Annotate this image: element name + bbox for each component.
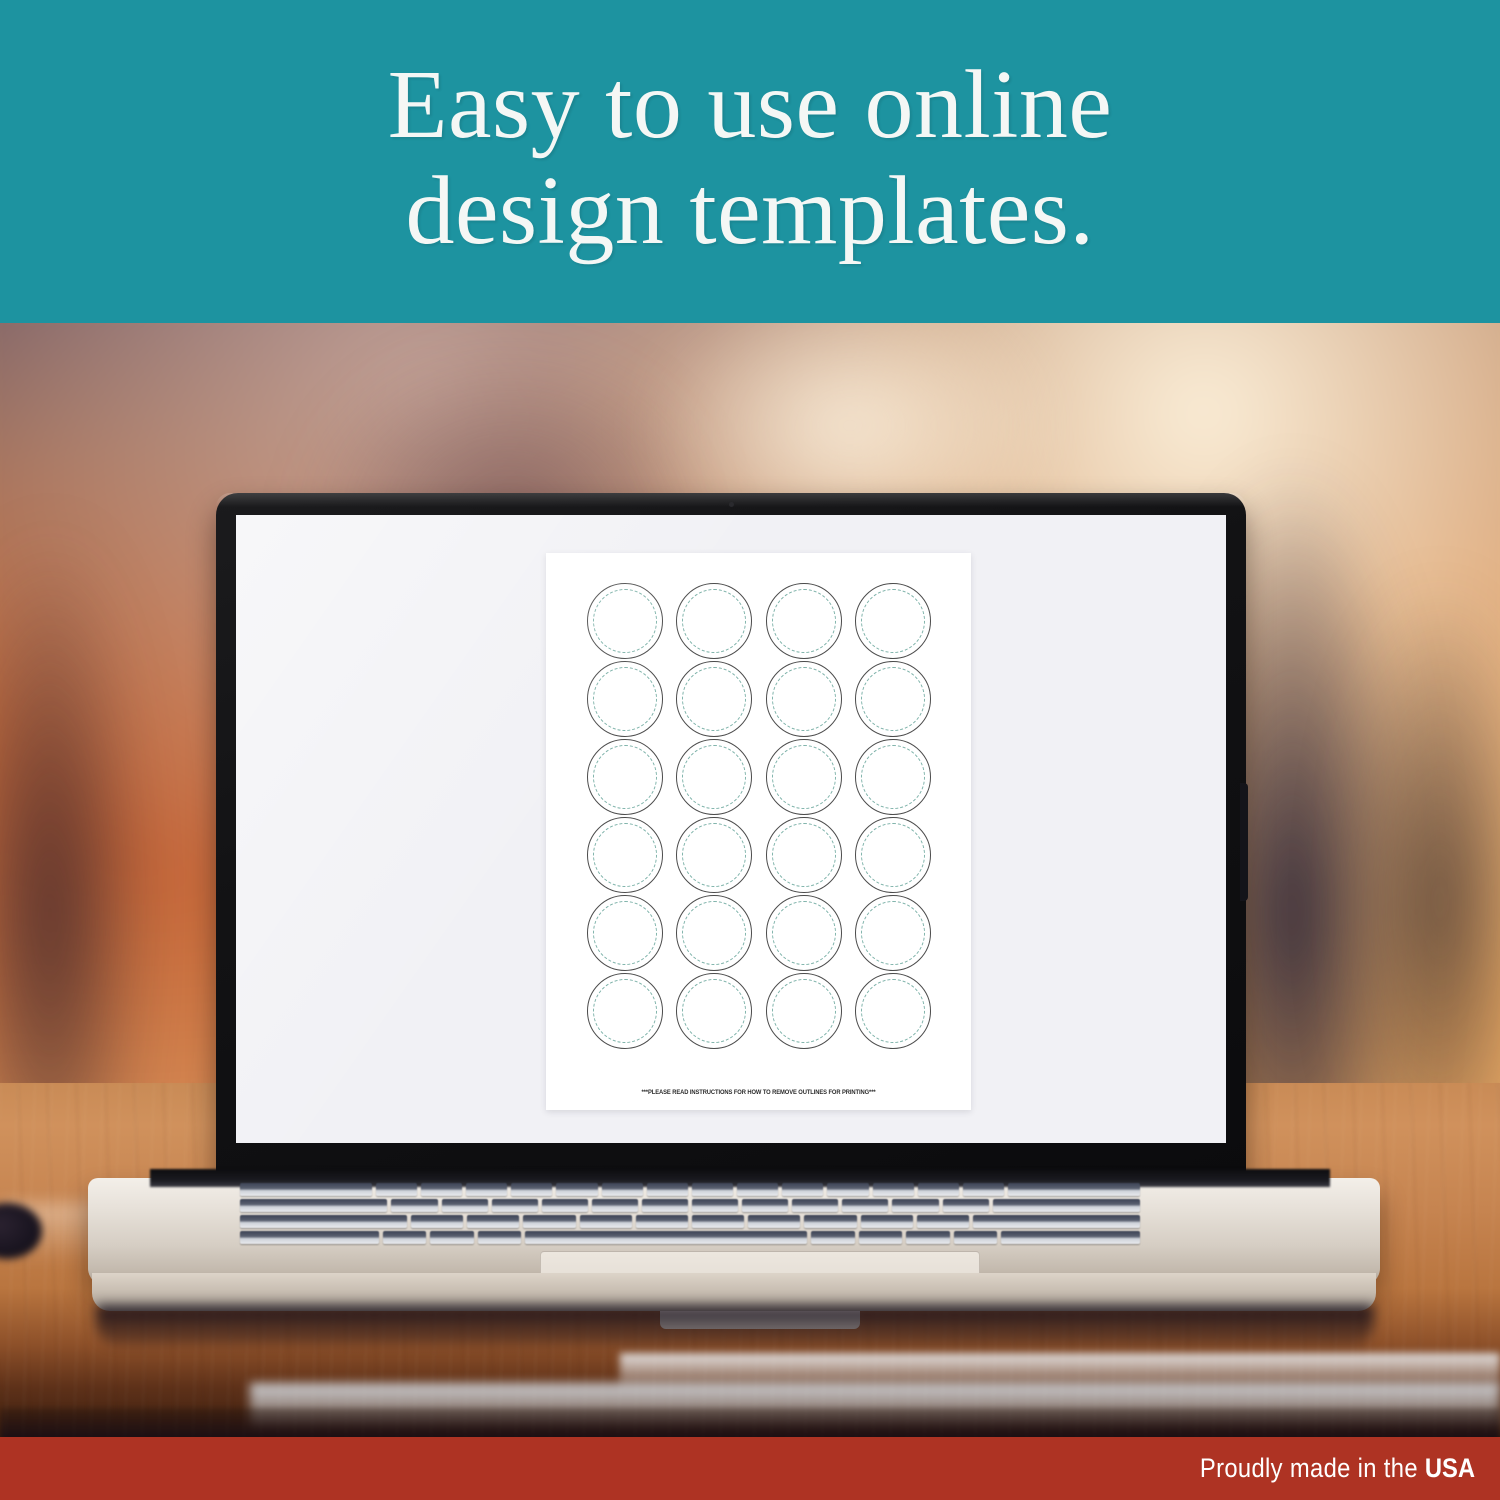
circle-dashed-guide	[682, 667, 746, 731]
key	[973, 1215, 1140, 1228]
key	[1001, 1231, 1140, 1244]
key	[556, 1183, 597, 1196]
key	[478, 1231, 521, 1244]
key	[692, 1215, 744, 1228]
key	[442, 1199, 488, 1212]
circle-dashed-guide	[593, 823, 657, 887]
key	[467, 1215, 519, 1228]
key	[421, 1183, 462, 1196]
label-circle[interactable]	[580, 582, 670, 660]
label-circle[interactable]	[670, 660, 760, 738]
label-circle[interactable]	[759, 660, 849, 738]
label-circle[interactable]	[580, 738, 670, 816]
key	[430, 1231, 473, 1244]
webcam-icon	[729, 502, 734, 507]
key	[954, 1231, 997, 1244]
key	[1008, 1183, 1140, 1196]
key	[918, 1183, 959, 1196]
label-circle[interactable]	[849, 582, 939, 660]
headline-line-1: Easy to use online	[388, 51, 1113, 159]
laptop-lid: ***PLEASE READ INSTRUCTIONS FOR HOW TO R…	[216, 493, 1246, 1185]
keyboard-row	[240, 1231, 1140, 1244]
key	[383, 1231, 426, 1244]
key	[859, 1231, 902, 1244]
circle-dashed-guide	[772, 589, 836, 653]
key	[592, 1199, 638, 1212]
poster-canvas: Easy to use online design templates.	[0, 0, 1500, 1500]
key	[842, 1199, 888, 1212]
laptop: ***PLEASE READ INSTRUCTIONS FOR HOW TO R…	[0, 323, 1500, 1437]
circle-dashed-guide	[682, 901, 746, 965]
circle-dashed-guide	[682, 745, 746, 809]
circle-dashed-guide	[772, 745, 836, 809]
key	[636, 1215, 688, 1228]
key	[827, 1183, 868, 1196]
key	[943, 1199, 989, 1212]
label-circle[interactable]	[849, 660, 939, 738]
label-circle[interactable]	[759, 816, 849, 894]
key	[917, 1215, 969, 1228]
key	[240, 1183, 372, 1196]
key	[240, 1215, 407, 1228]
key	[861, 1215, 913, 1228]
made-in-usa-text: Proudly made in the USA	[1200, 1453, 1500, 1484]
label-circle[interactable]	[759, 894, 849, 972]
circle-dashed-guide	[861, 979, 925, 1043]
circle-dashed-guide	[861, 901, 925, 965]
circle-dashed-guide	[593, 901, 657, 965]
key	[811, 1231, 854, 1244]
key	[647, 1183, 688, 1196]
label-circle[interactable]	[670, 738, 760, 816]
product-photo: ***PLEASE READ INSTRUCTIONS FOR HOW TO R…	[0, 323, 1500, 1437]
made-in-usa-banner: Proudly made in the USA	[0, 1437, 1500, 1500]
made-in-usa-emphasis: USA	[1425, 1453, 1475, 1483]
lid-side-notch	[1240, 783, 1248, 901]
label-circle[interactable]	[670, 972, 760, 1050]
key	[737, 1183, 778, 1196]
keyboard-row	[240, 1215, 1140, 1228]
key	[492, 1199, 538, 1212]
key	[642, 1199, 688, 1212]
key	[411, 1215, 463, 1228]
key	[692, 1199, 738, 1212]
label-circle[interactable]	[849, 816, 939, 894]
keyboard-row	[240, 1183, 1140, 1196]
key	[906, 1231, 949, 1244]
circle-dashed-guide	[861, 823, 925, 887]
key	[376, 1183, 417, 1196]
label-circle[interactable]	[670, 582, 760, 660]
circle-dashed-guide	[861, 745, 925, 809]
circle-dashed-guide	[772, 979, 836, 1043]
key	[873, 1183, 914, 1196]
circle-dashed-guide	[772, 823, 836, 887]
page-title: Easy to use online design templates.	[388, 53, 1113, 271]
circle-dashed-guide	[772, 901, 836, 965]
headline-banner: Easy to use online design templates.	[0, 0, 1500, 323]
key	[542, 1199, 588, 1212]
circle-dashed-guide	[861, 589, 925, 653]
label-circle[interactable]	[580, 816, 670, 894]
key	[692, 1183, 733, 1196]
key	[748, 1215, 800, 1228]
key	[892, 1199, 938, 1212]
key	[602, 1183, 643, 1196]
label-circle[interactable]	[849, 894, 939, 972]
label-circle[interactable]	[759, 972, 849, 1050]
key	[580, 1215, 632, 1228]
circle-dashed-guide	[861, 667, 925, 731]
circle-dashed-guide	[593, 589, 657, 653]
key	[993, 1199, 1140, 1212]
key	[804, 1215, 856, 1228]
headline-line-2: design templates.	[388, 159, 1113, 265]
circle-dashed-guide	[682, 589, 746, 653]
laptop-drop-shadow	[96, 1305, 1374, 1345]
key	[240, 1231, 379, 1244]
key	[742, 1199, 788, 1212]
key	[782, 1183, 823, 1196]
label-grid	[580, 582, 938, 1050]
circle-dashed-guide	[772, 667, 836, 731]
label-circle[interactable]	[580, 972, 670, 1050]
key	[511, 1183, 552, 1196]
laptop-screen: ***PLEASE READ INSTRUCTIONS FOR HOW TO R…	[236, 515, 1226, 1143]
circle-dashed-guide	[682, 823, 746, 887]
label-circle[interactable]	[580, 894, 670, 972]
label-circle[interactable]	[670, 816, 760, 894]
key	[240, 1199, 387, 1212]
keyboard-row	[240, 1199, 1140, 1212]
spacebar-key	[525, 1231, 807, 1244]
label-circle[interactable]	[849, 972, 939, 1050]
circle-dashed-guide	[593, 979, 657, 1043]
laptop-keyboard[interactable]	[240, 1183, 1140, 1249]
label-circle[interactable]	[580, 660, 670, 738]
printing-instructions-note: ***PLEASE READ INSTRUCTIONS FOR HOW TO R…	[559, 1089, 959, 1096]
key	[792, 1199, 838, 1212]
label-circle[interactable]	[759, 738, 849, 816]
key	[391, 1199, 437, 1212]
key	[466, 1183, 507, 1196]
made-in-usa-prefix: Proudly made in the	[1200, 1453, 1425, 1483]
label-circle[interactable]	[670, 894, 760, 972]
circle-dashed-guide	[682, 979, 746, 1043]
key	[523, 1215, 575, 1228]
label-template-document[interactable]: ***PLEASE READ INSTRUCTIONS FOR HOW TO R…	[546, 553, 971, 1110]
label-circle[interactable]	[759, 582, 849, 660]
key	[963, 1183, 1004, 1196]
circle-dashed-guide	[593, 667, 657, 731]
label-circle[interactable]	[849, 738, 939, 816]
circle-dashed-guide	[593, 745, 657, 809]
